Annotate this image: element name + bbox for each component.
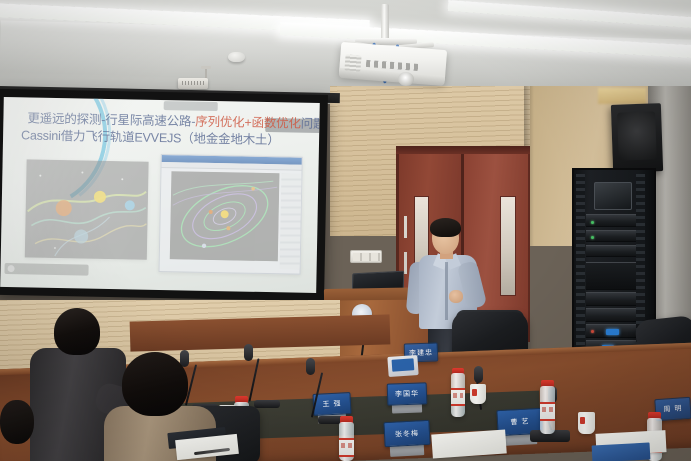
name-placard-2[interactable]: 李国华: [387, 382, 428, 405]
rack-led-green-1: [591, 221, 594, 224]
audience-3-head: [0, 400, 34, 444]
orbit-plot-canvas: [170, 171, 280, 261]
table-mic-head-2: [244, 344, 253, 361]
rack-patch-panel: [586, 262, 636, 290]
name-placard-1[interactable]: 王 强: [312, 392, 351, 416]
rack-display-blue-1: [606, 329, 619, 335]
bottle-label-2: [339, 438, 354, 457]
door-handle-upper[interactable]: [404, 216, 407, 238]
conference-room-scene: 更遥远的探测-行星际高速公路-序列优化+函数优化问题 Cassini借力飞行轨道…: [0, 0, 691, 461]
rack-monitor: [594, 182, 632, 210]
table-mic-head-3: [306, 358, 315, 375]
slide-title-highlight: 序列优化+函数优化: [195, 115, 301, 131]
name-placard-3[interactable]: 张冬梅: [383, 420, 430, 447]
audience-1-head: [54, 308, 100, 355]
slide-title-part-3: 问题: [301, 117, 320, 131]
presenter-shirt-placket: [445, 262, 448, 320]
slide-badge-top: [164, 101, 218, 111]
light-switch[interactable]: [350, 250, 382, 263]
slide-image-orbit-window: [159, 154, 303, 275]
ceiling-speaker: [178, 78, 208, 89]
paper-sheet-2: [431, 429, 506, 458]
wall-speaker: [611, 103, 663, 173]
slide-window-menubar: [162, 162, 303, 171]
audience-2-head: [122, 352, 188, 416]
rack-unit-2[interactable]: [586, 230, 636, 242]
rack-amplifier-1[interactable]: [586, 324, 636, 338]
projector-mount-pole: [381, 4, 389, 40]
bottle-label-3: [451, 388, 465, 406]
paper-cup-3: [578, 412, 595, 434]
slide-image-superhighway: [25, 159, 149, 259]
orbit-plot-graphic: [170, 171, 280, 261]
wall-sconce-light: [598, 88, 646, 104]
rack-unit-1[interactable]: [586, 214, 636, 227]
blue-box: [592, 442, 651, 461]
presenter-hair: [430, 218, 461, 237]
rack-unit-4[interactable]: [586, 292, 636, 306]
table-mic-base-2: [254, 400, 280, 408]
bottle-label-4: [540, 402, 555, 421]
rack-led-green-2: [591, 236, 594, 239]
door-glass-right: [500, 196, 516, 296]
slide-watermark: [4, 263, 88, 276]
voting-keypad[interactable]: [387, 355, 418, 377]
projector-vent: [344, 54, 361, 71]
door-transom: [396, 146, 530, 154]
slide-window-sidebar: [280, 173, 303, 269]
superhighway-graphic: [25, 159, 149, 259]
projection-screen-frame: 更遥远的探测-行星际高速公路-序列优化+函数优化问题 Cassini借力飞行轨道…: [0, 89, 328, 301]
rack-unit-3[interactable]: [586, 245, 636, 257]
door-handle-lower[interactable]: [404, 252, 407, 274]
paper-cup-2: [470, 384, 486, 404]
rack-unit-5[interactable]: [586, 308, 636, 322]
rack-led-red-1: [591, 330, 594, 333]
smoke-detector-icon: [228, 52, 245, 62]
projection-screen-surface: 更遥远的探测-行星际高速公路-序列优化+函数优化问题 Cassini借力飞行轨道…: [0, 97, 320, 293]
slide-title-part-1: 更遥远的探测-行星际高速公路-: [27, 111, 195, 128]
presenter-hand: [449, 290, 463, 303]
table-mic-head-5: [474, 366, 483, 383]
